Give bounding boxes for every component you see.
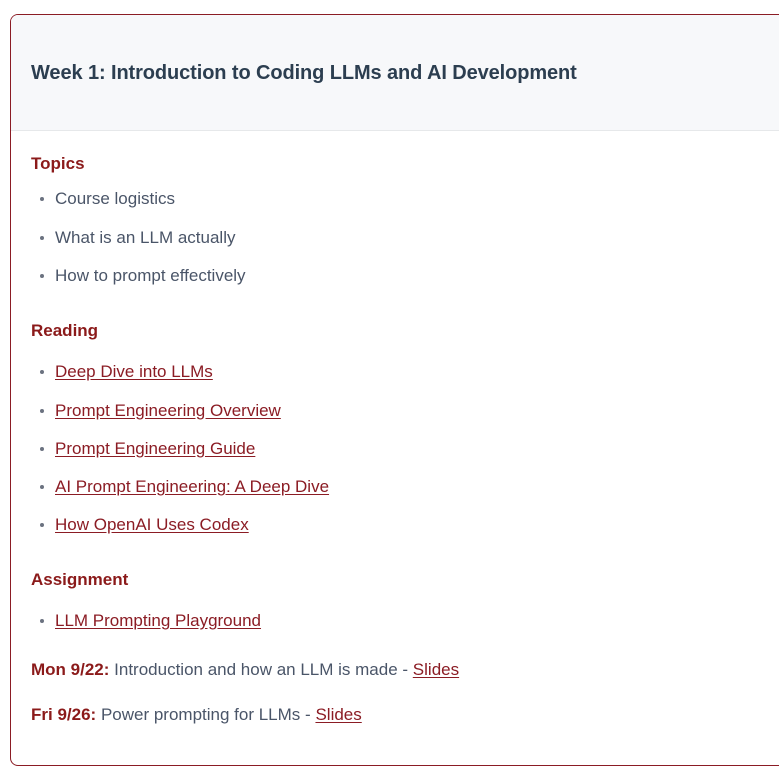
session-row: Mon 9/22: Introduction and how an LLM is…	[31, 659, 779, 680]
topic-label: What is an LLM actually	[55, 228, 235, 247]
list-item: Prompt Engineering Guide	[31, 438, 779, 459]
topics-list: Course logistics What is an LLM actually…	[31, 188, 779, 286]
reading-link[interactable]: Prompt Engineering Overview	[55, 401, 281, 420]
page-title: Week 1: Introduction to Coding LLMs and …	[31, 61, 577, 85]
session-date: Mon 9/22:	[31, 660, 109, 679]
card-header: Week 1: Introduction to Coding LLMs and …	[11, 15, 779, 131]
topic-label: How to prompt effectively	[55, 266, 246, 285]
list-item: What is an LLM actually	[31, 227, 779, 248]
session-slides-link[interactable]: Slides	[413, 660, 459, 679]
topics-heading: Topics	[31, 153, 779, 174]
reading-list: Deep Dive into LLMs Prompt Engineering O…	[31, 361, 779, 535]
list-item: LLM Prompting Playground	[31, 610, 779, 631]
session-slides-link[interactable]: Slides	[315, 705, 361, 724]
assignment-link[interactable]: LLM Prompting Playground	[55, 611, 261, 630]
reading-link[interactable]: Deep Dive into LLMs	[55, 362, 213, 381]
week-card: Week 1: Introduction to Coding LLMs and …	[10, 14, 779, 766]
session-separator: -	[305, 705, 311, 724]
assignment-list: LLM Prompting Playground	[31, 610, 779, 631]
assignment-heading: Assignment	[31, 569, 779, 590]
session-date: Fri 9/26:	[31, 705, 96, 724]
list-item: AI Prompt Engineering: A Deep Dive	[31, 476, 779, 497]
reading-link[interactable]: AI Prompt Engineering: A Deep Dive	[55, 477, 329, 496]
card-body: Topics Course logistics What is an LLM a…	[11, 131, 779, 726]
list-item: Deep Dive into LLMs	[31, 361, 779, 382]
list-item: How OpenAI Uses Codex	[31, 514, 779, 535]
session-description: Introduction and how an LLM is made	[114, 660, 398, 679]
reading-link[interactable]: How OpenAI Uses Codex	[55, 515, 249, 534]
reading-heading: Reading	[31, 320, 779, 341]
reading-link[interactable]: Prompt Engineering Guide	[55, 439, 255, 458]
list-item: Course logistics	[31, 188, 779, 209]
list-item: Prompt Engineering Overview	[31, 400, 779, 421]
topic-label: Course logistics	[55, 189, 175, 208]
session-separator: -	[402, 660, 408, 679]
session-description: Power prompting for LLMs	[101, 705, 300, 724]
session-list: Mon 9/22: Introduction and how an LLM is…	[31, 659, 779, 726]
session-row: Fri 9/26: Power prompting for LLMs - Sli…	[31, 704, 779, 725]
list-item: How to prompt effectively	[31, 265, 779, 286]
